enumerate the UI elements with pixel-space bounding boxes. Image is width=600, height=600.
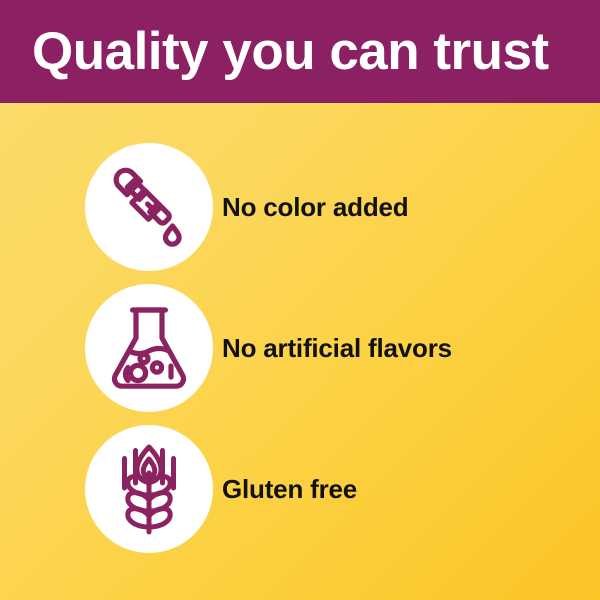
page-title: Quality you can trust xyxy=(0,25,549,78)
feature-label: No color added xyxy=(222,192,408,223)
feature-item-no-artificial-flavors: No artificial flavors xyxy=(85,284,555,412)
feature-list: No color added xyxy=(0,103,600,600)
icon-badge xyxy=(85,284,213,412)
wheat-stalk-icon xyxy=(110,443,188,535)
header-banner: Quality you can trust xyxy=(0,0,600,103)
feature-label: Gluten free xyxy=(222,474,357,505)
icon-badge xyxy=(85,143,213,271)
feature-item-no-color-added: No color added xyxy=(85,143,555,271)
dropper-pipette-icon xyxy=(106,164,192,250)
erlenmeyer-flask-icon xyxy=(107,304,191,392)
icon-badge xyxy=(85,425,213,553)
promo-graphic: Quality you can trust xyxy=(0,0,600,600)
feature-label: No artificial flavors xyxy=(222,333,452,364)
feature-item-gluten-free: Gluten free xyxy=(85,425,555,553)
